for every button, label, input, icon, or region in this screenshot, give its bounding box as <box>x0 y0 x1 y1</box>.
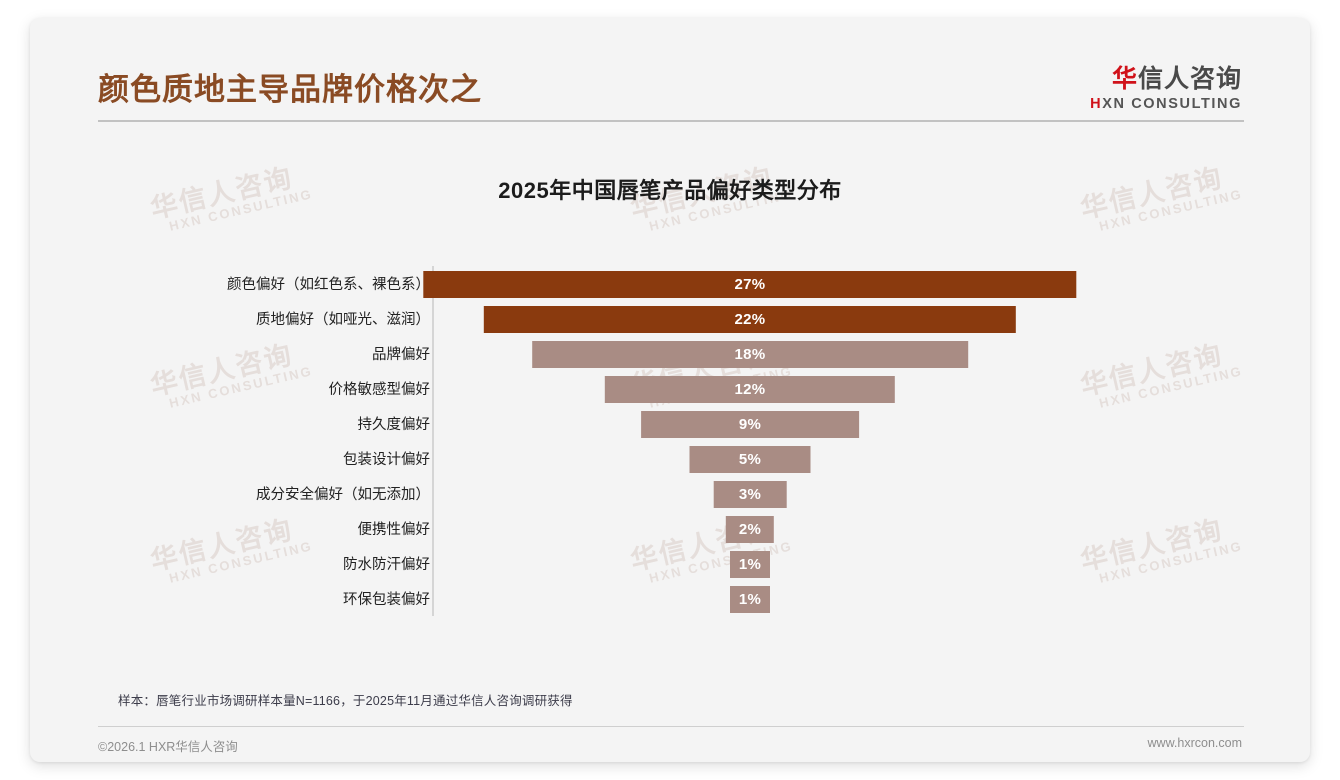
page-title: 颜色质地主导品牌价格次之 <box>98 74 482 105</box>
funnel-bar: 3% <box>714 481 787 508</box>
bar-value-label: 5% <box>739 451 761 468</box>
source-note: 样本：唇笔行业市场调研样本量N=1166，于2025年11月通过华信人咨询调研获… <box>118 690 573 709</box>
footer-divider <box>98 726 1244 727</box>
category-label: 颜色偏好（如红色系、裸色系） <box>227 266 430 301</box>
bar-value-label: 27% <box>735 276 766 293</box>
bar-value-label: 1% <box>739 591 761 608</box>
funnel-bar: 5% <box>690 446 811 473</box>
funnel-row: 价格敏感型偏好12% <box>30 371 1310 406</box>
funnel-chart: 颜色偏好（如红色系、裸色系）27%质地偏好（如哑光、滋润）22%品牌偏好18%价… <box>30 266 1310 616</box>
brand-logo: 华信人咨询 HXN CONSULTING <box>1090 66 1242 112</box>
logo-cn-highlight: 华 <box>1112 65 1138 93</box>
category-label: 品牌偏好 <box>372 336 430 371</box>
category-label: 质地偏好（如哑光、滋润） <box>256 301 430 336</box>
category-label: 防水防汗偏好 <box>343 546 430 581</box>
category-label: 便携性偏好 <box>358 511 431 546</box>
funnel-bar: 22% <box>484 306 1016 333</box>
website-text: www.hxrcon.com <box>1148 736 1242 750</box>
funnel-bar: 27% <box>423 271 1076 298</box>
bar-value-label: 3% <box>739 486 761 503</box>
chart-title: 2025年中国唇笔产品偏好类型分布 <box>30 173 1310 205</box>
funnel-row: 持久度偏好9% <box>30 406 1310 441</box>
slide-card: 华信人咨询 HXN CONSULTING 华信人咨询 HXN CONSULTIN… <box>30 18 1310 762</box>
funnel-bar: 18% <box>532 341 968 368</box>
bar-value-label: 9% <box>739 416 761 433</box>
bar-value-label: 22% <box>735 311 766 328</box>
bar-value-label: 18% <box>735 346 766 363</box>
funnel-row: 成分安全偏好（如无添加）3% <box>30 476 1310 511</box>
funnel-row: 环保包装偏好1% <box>30 581 1310 616</box>
funnel-row: 便携性偏好2% <box>30 511 1310 546</box>
category-label: 价格敏感型偏好 <box>329 371 431 406</box>
bar-value-label: 12% <box>735 381 766 398</box>
funnel-row: 颜色偏好（如红色系、裸色系）27% <box>30 266 1310 301</box>
funnel-row: 品牌偏好18% <box>30 336 1310 371</box>
funnel-bar: 1% <box>730 551 770 578</box>
funnel-row: 质地偏好（如哑光、滋润）22% <box>30 301 1310 336</box>
funnel-bar: 12% <box>605 376 895 403</box>
category-label: 环保包装偏好 <box>343 581 430 616</box>
category-label: 包装设计偏好 <box>343 441 430 476</box>
logo-chinese: 华信人咨询 <box>1090 66 1242 94</box>
funnel-bar: 9% <box>641 411 859 438</box>
logo-cn-rest: 信人咨询 <box>1138 65 1242 93</box>
funnel-row: 防水防汗偏好1% <box>30 546 1310 581</box>
bar-value-label: 2% <box>739 521 761 538</box>
slide-header: 颜色质地主导品牌价格次之 华信人咨询 HXN CONSULTING <box>30 18 1310 120</box>
funnel-bar: 2% <box>726 516 774 543</box>
copyright-text: ©2026.1 HXR华信人咨询 <box>98 736 238 755</box>
category-label: 持久度偏好 <box>358 406 431 441</box>
bar-value-label: 1% <box>739 556 761 573</box>
funnel-bar: 1% <box>730 586 770 613</box>
header-divider <box>98 120 1244 122</box>
logo-en-highlight: H <box>1090 96 1102 112</box>
logo-en-rest: XN CONSULTING <box>1102 96 1242 112</box>
funnel-row: 包装设计偏好5% <box>30 441 1310 476</box>
logo-english: HXN CONSULTING <box>1090 96 1242 112</box>
category-label: 成分安全偏好（如无添加） <box>256 476 430 511</box>
